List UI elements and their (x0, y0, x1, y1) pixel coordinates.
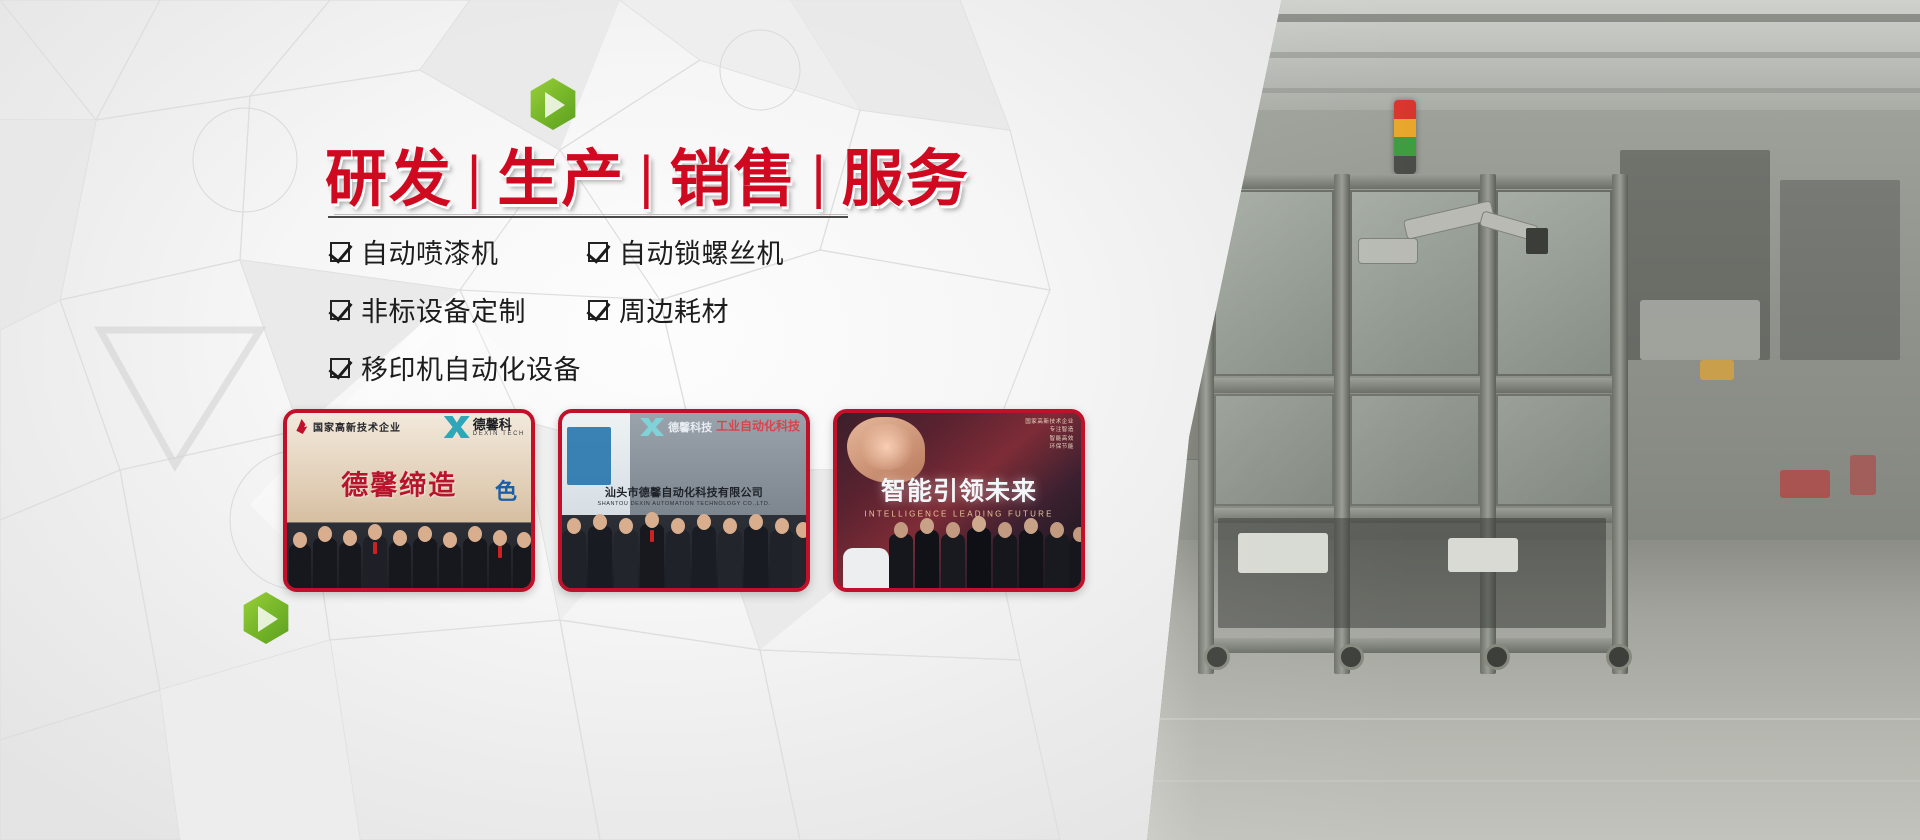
card-exhibition-team-photo[interactable]: 德馨科技 工业自动化科技 汕头市德馨自动化科技有限公司 SHANTOU DEXI… (558, 409, 810, 592)
card2-company-cn: 汕头市德馨自动化科技有限公司 (605, 487, 763, 499)
checklist-item-consumables: 周边耗材 (588, 290, 784, 329)
dexin-logo-icon (444, 416, 470, 438)
card3-tag-3: 智能高效 (1025, 435, 1074, 443)
dexin-logo-icon (640, 418, 664, 436)
checklist-item-auto-painting: 自动喷漆机 (330, 232, 588, 271)
card2-brand-red: 工业自动化科技 (716, 417, 800, 434)
promo-banner: 研发|生产|销售|服务 自动喷漆机 非标设备定制 自动锁螺丝机 (0, 0, 1920, 840)
checklist-label: 非标设备定制 (361, 290, 526, 329)
checklist-label: 自动锁螺丝机 (619, 232, 784, 271)
headline-word-2: 生产 (497, 142, 625, 215)
card1-brand-cn: 德馨科DEXIN TECH (473, 418, 525, 437)
checklist-item-auto-screw: 自动锁螺丝机 (588, 232, 784, 271)
photo-card-gallery: 国家高新技术企业 德馨科DEXIN TECH 德馨缔造 色 (283, 409, 1085, 592)
checklist-label: 移印机自动化设备 (361, 348, 581, 387)
card3-team-silhouettes (837, 518, 1081, 588)
headline-word-1: 研发 (325, 142, 453, 215)
headline: 研发|生产|销售|服务 (325, 128, 970, 218)
headline-word-3: 销售 (669, 142, 797, 215)
headline-divider (328, 214, 848, 218)
card3-tag-1: 国家高新技术企业 (1025, 418, 1074, 426)
card2-team-silhouettes (562, 508, 806, 589)
card2-brand-cn: 德馨科技 (668, 419, 712, 435)
feature-checklist: 自动喷漆机 非标设备定制 自动锁螺丝机 周边耗材 移印机自动 (330, 232, 870, 406)
checkbox-checked-icon (330, 242, 350, 262)
card1-brand-en: DEXIN TECH (473, 431, 525, 437)
card3-tag-4: 环保节能 (1025, 443, 1074, 451)
headline-separator-3: | (797, 146, 841, 209)
card3-tag-2: 专注智造 (1025, 426, 1074, 434)
card1-calligraphy: 德馨缔造 (341, 464, 457, 503)
hexagon-play-accent-top (527, 78, 579, 130)
card1-team-silhouettes (287, 518, 531, 588)
card-conference-team-photo[interactable]: 国家高新技术企业 专注智造 智能高效 环保节能 智能引领未来 INTELLIGE… (833, 409, 1085, 592)
checklist-label: 周边耗材 (619, 290, 729, 329)
checkbox-checked-icon (588, 242, 608, 262)
card1-accent-word: 色 (495, 474, 517, 506)
checkbox-checked-icon (330, 358, 350, 378)
card3-title-cn: 智能引领未来 (881, 478, 1037, 506)
card1-badge-text: 国家高新技术企业 (313, 419, 401, 434)
headline-separator-1: | (453, 146, 497, 209)
headline-separator-2: | (625, 146, 669, 209)
flame-emblem-icon (295, 419, 308, 434)
checklist-item-custom-equipment: 非标设备定制 (330, 290, 588, 329)
hexagon-play-accent-bottom (240, 592, 292, 644)
card-award-team-photo[interactable]: 国家高新技术企业 德馨科DEXIN TECH 德馨缔造 色 (283, 409, 535, 592)
checklist-item-pad-printer: 移印机自动化设备 (330, 348, 870, 387)
checkbox-checked-icon (588, 300, 608, 320)
checkbox-checked-icon (330, 300, 350, 320)
checklist-label: 自动喷漆机 (361, 232, 499, 271)
card2-company-en: SHANTOU DEXIN AUTOMATION TECHNOLOGY CO.,… (597, 501, 770, 507)
headline-word-4: 服务 (842, 142, 970, 215)
